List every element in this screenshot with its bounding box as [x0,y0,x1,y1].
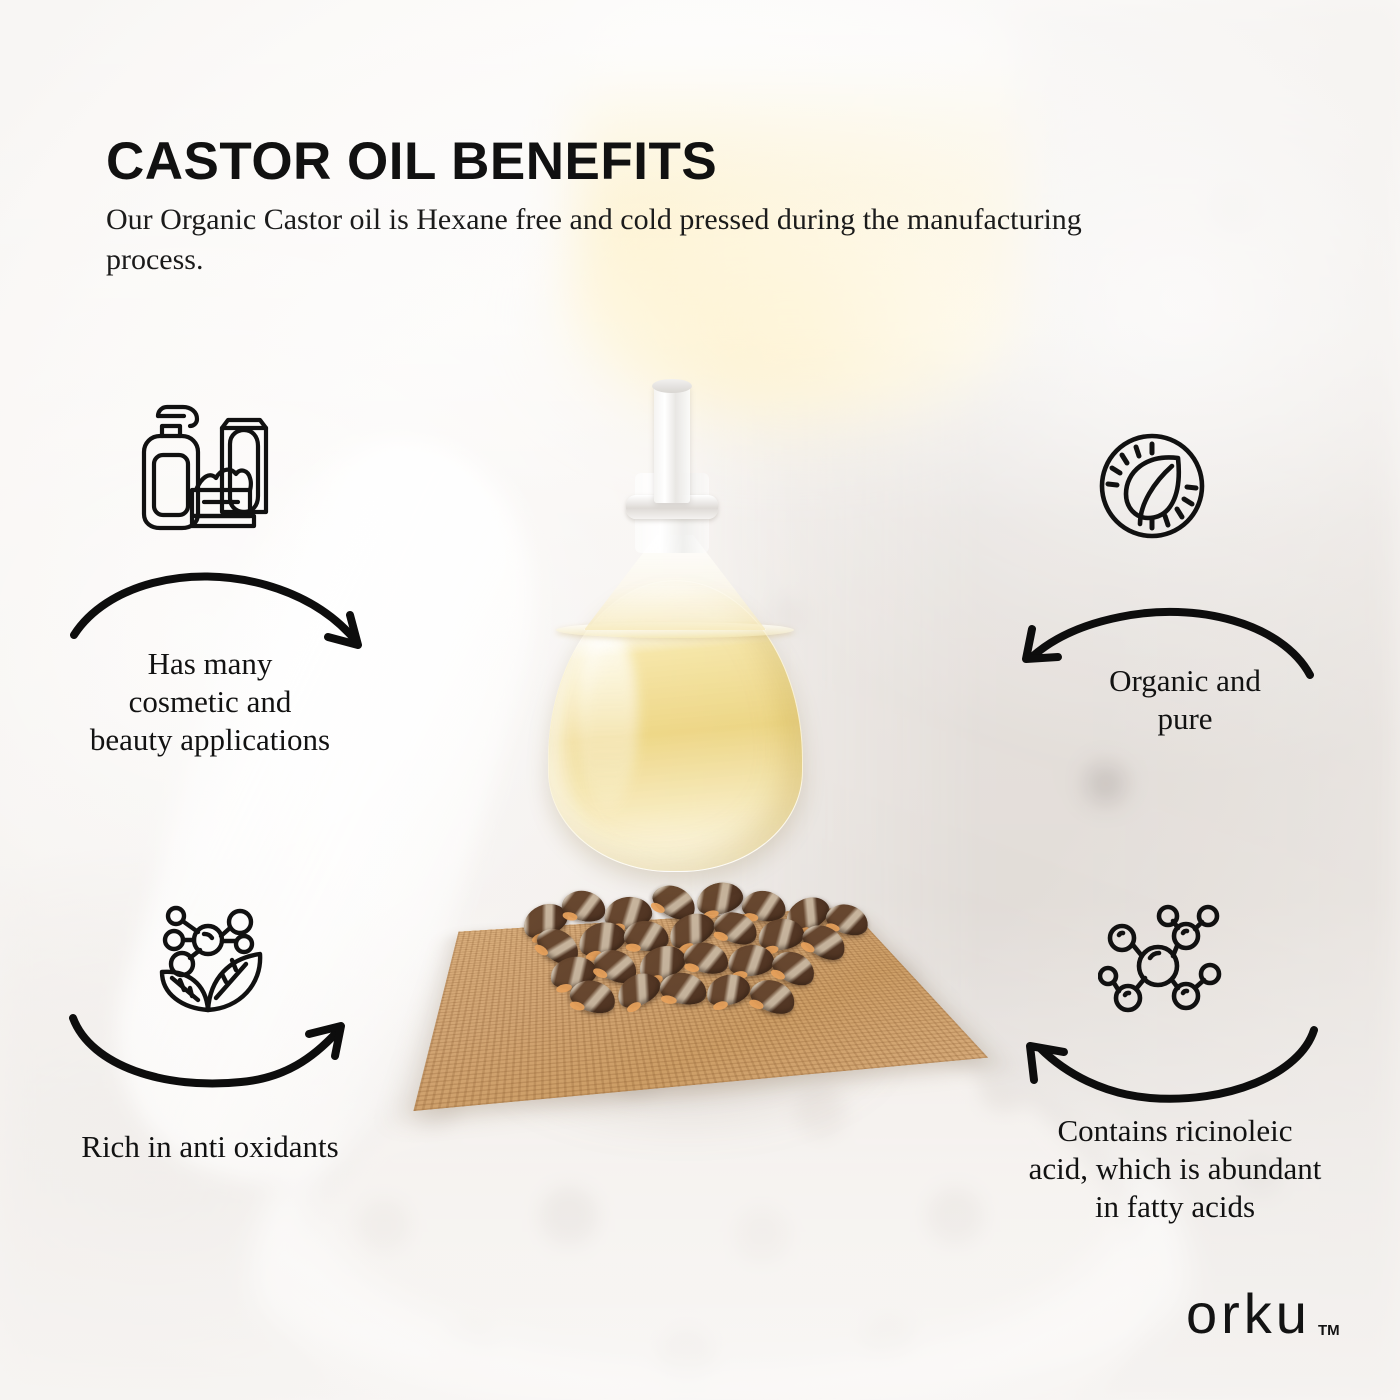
page-title: CASTOR OIL BENEFITS [106,131,717,192]
castor-oil-benefits-infographic: CASTOR OIL BENEFITS Our Organic Castor o… [0,0,1400,1400]
benefit-antioxidants-label: Rich in anti oxidants [30,1128,390,1166]
oil-flask-highlight [576,625,638,810]
benefit-cosmetic-label: Has many cosmetic and beauty application… [40,645,380,758]
benefit-organic-label: Organic and pure [1040,662,1330,738]
page-subtitle: Our Organic Castor oil is Hexane free an… [106,200,1116,279]
oil-flask-stopper-top [652,379,692,393]
oil-flask-stopper [654,383,690,503]
benefit-ricinoleic-label: Contains ricinoleic acid, which is abund… [1000,1112,1350,1225]
trademark-symbol: TM [1318,1322,1340,1339]
product-photo [370,375,1070,1095]
molecule-icon [1098,902,1238,1033]
leaf-badge-icon [1090,424,1214,553]
molecule-leaf-icon [148,896,276,1025]
brand-logo: orku [1186,1286,1311,1342]
cosmetics-bottle-icon [118,386,294,541]
